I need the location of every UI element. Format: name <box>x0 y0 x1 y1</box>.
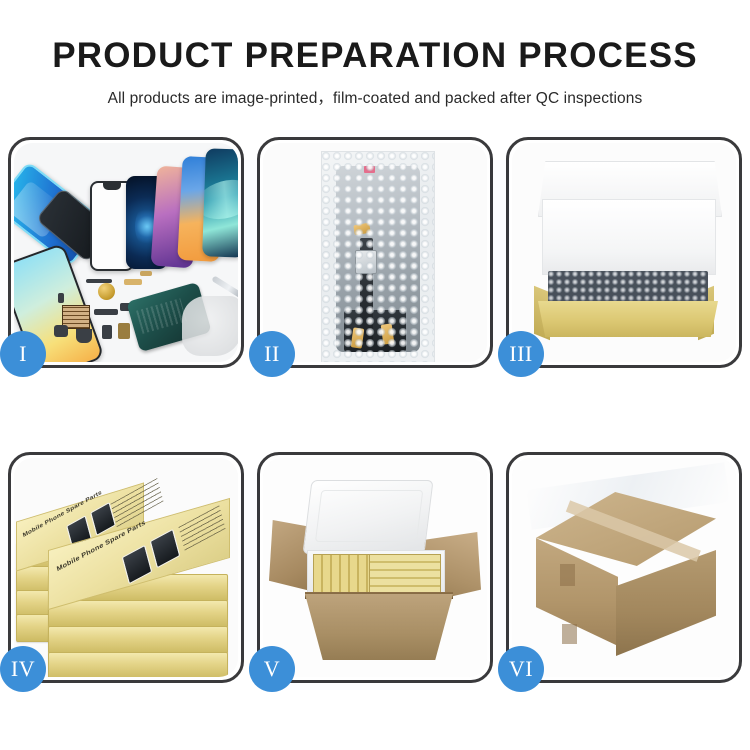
carton-loading-photo <box>263 458 487 677</box>
carton-tab-upper <box>560 564 575 586</box>
sealed-carton-photo <box>512 458 736 677</box>
box-screen-image <box>122 545 153 585</box>
process-step-5[interactable]: V <box>257 452 493 683</box>
vibrator-part <box>118 323 130 339</box>
white-foam-sheet <box>542 199 716 275</box>
inner-box-packing-photo <box>512 143 736 362</box>
hand-blur <box>182 296 238 356</box>
page-header: PRODUCT PREPARATION PROCESS All products… <box>0 0 750 108</box>
speaker-part <box>54 325 68 337</box>
step-badge-3: III <box>498 331 544 377</box>
process-step-2[interactable]: II <box>257 137 493 368</box>
bubble-wrapped-screen-photo <box>263 143 487 362</box>
carton-tab-lower <box>562 624 577 644</box>
process-step-4[interactable]: Mobile Phone Spare Parts Mobile Phone Sp… <box>8 452 244 683</box>
step-badge-5: V <box>249 646 295 692</box>
process-step-grid: I II <box>8 137 742 683</box>
yellow-boxes-inside-stacked <box>369 554 441 594</box>
box-layer <box>48 600 228 628</box>
box-layer <box>48 626 228 654</box>
page-subtitle: All products are image-printed，film-coat… <box>0 76 750 108</box>
page-title: PRODUCT PREPARATION PROCESS <box>0 0 750 76</box>
flex-cable-part <box>86 279 112 283</box>
process-step-1[interactable]: I <box>8 137 244 368</box>
yellow-box-front <box>538 301 718 337</box>
button-part <box>58 293 64 303</box>
gold-connector-part <box>124 279 142 285</box>
box-stack-front: Mobile Phone Spare Parts <box>48 524 226 677</box>
bubble-texture <box>322 152 434 362</box>
boxed-stack-photo: Mobile Phone Spare Parts Mobile Phone Sp… <box>14 458 238 677</box>
box-spec-lines <box>178 505 225 550</box>
sim-tray-part <box>102 325 112 339</box>
taptic-part <box>76 329 92 343</box>
teal-wave-phone <box>202 148 238 257</box>
bubble-wrap-bag <box>321 151 435 362</box>
process-step-6[interactable]: VI <box>506 452 742 683</box>
ribbon-cable-part <box>94 309 118 315</box>
styrofoam-lid <box>302 480 433 554</box>
step-badge-2: II <box>249 331 295 377</box>
process-step-3[interactable]: III <box>506 137 742 368</box>
product-parts-photo <box>14 143 238 362</box>
grey-bubble-wrap-contents <box>548 271 708 305</box>
step-badge-6: VI <box>498 646 544 692</box>
box-screen-image <box>150 529 181 569</box>
small-gold-part <box>140 271 152 276</box>
step-badge-1: I <box>0 331 46 377</box>
box-layer <box>48 652 228 677</box>
carton-body <box>305 594 453 660</box>
step-badge-4: IV <box>0 646 46 692</box>
gold-component-icon <box>98 283 115 300</box>
